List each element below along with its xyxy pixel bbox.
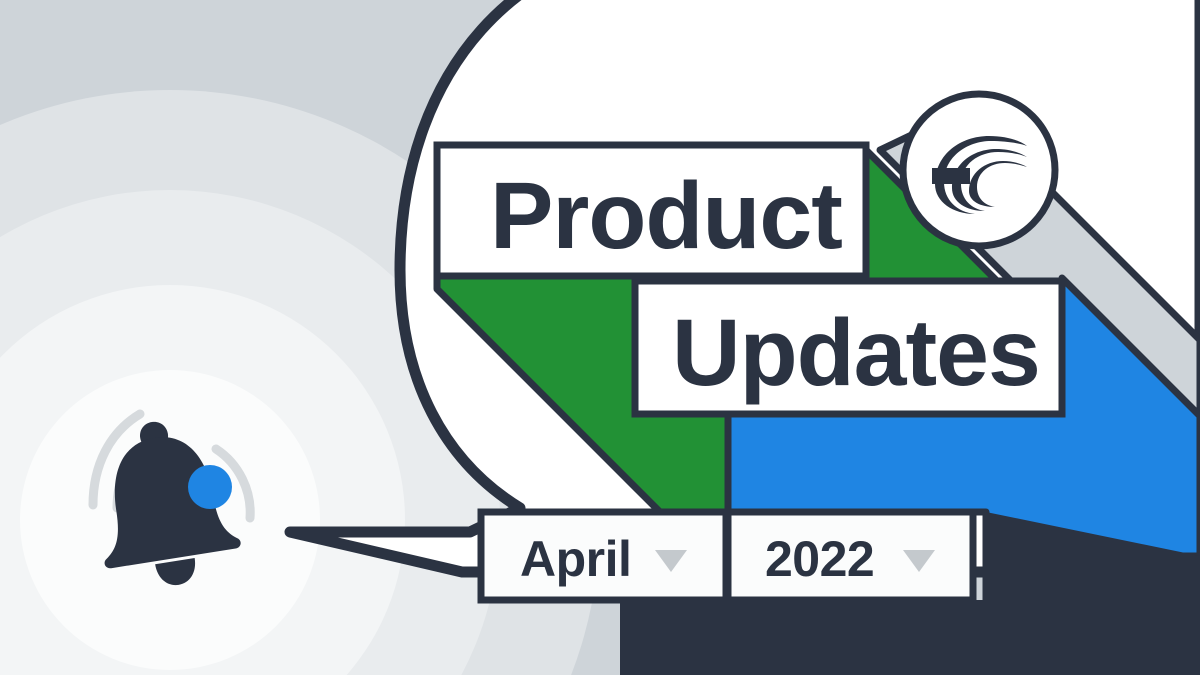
logo-badge-hit[interactable] [903, 94, 1055, 246]
month-dropdown-hit[interactable] [481, 512, 726, 600]
bell-icon-hit [88, 410, 263, 595]
page-subtitle: Updates [635, 281, 1069, 421]
banner-artboard: Product Updates April 2022 [0, 0, 1200, 675]
year-dropdown-hit[interactable] [728, 512, 973, 600]
page-title: Product [437, 145, 873, 283]
